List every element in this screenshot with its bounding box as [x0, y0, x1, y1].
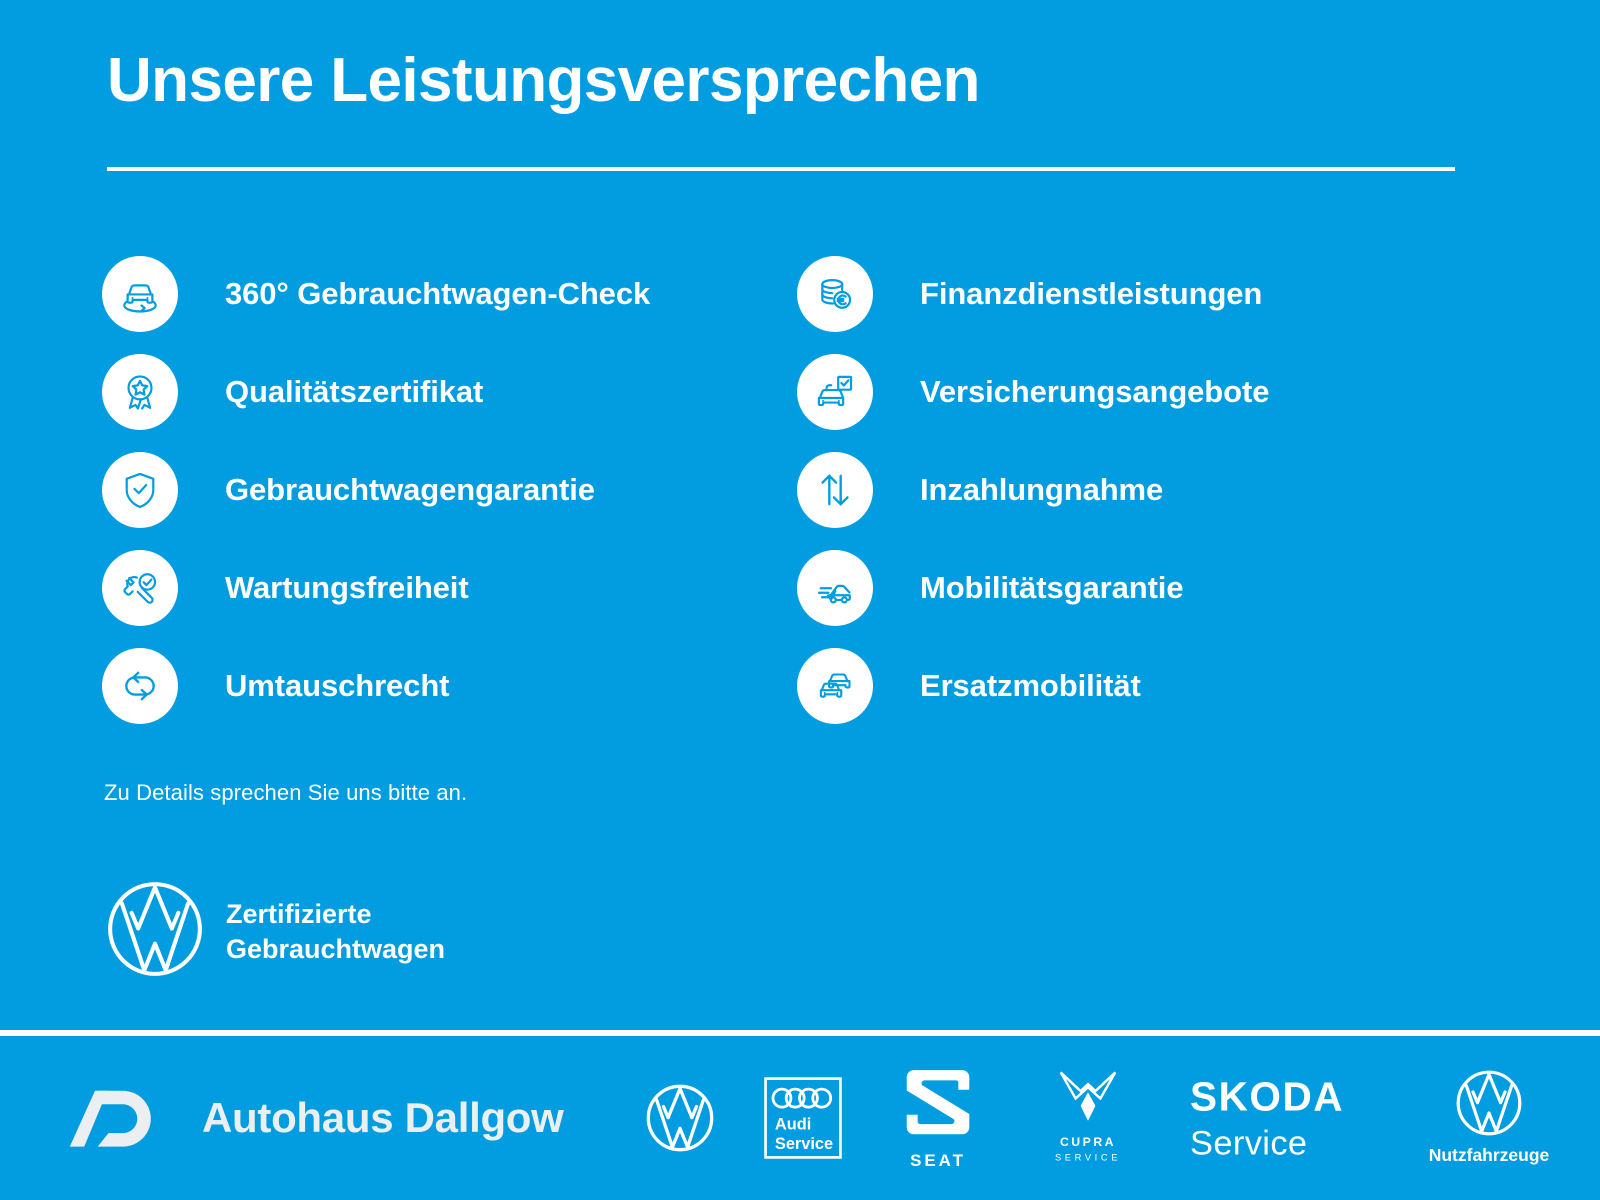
award-medal-icon: [102, 354, 178, 430]
brand-volkswagen: [644, 1082, 716, 1154]
benefit-label: Ersatzmobilität: [920, 668, 1141, 704]
skoda-wordmark-icon: SKODA Service: [1190, 1072, 1366, 1164]
audi-rings-icon: Audi Service: [764, 1077, 842, 1159]
benefits-left-column: 360° Gebrauchtwagen-Check Qualitätszerti…: [102, 245, 797, 735]
benefit-item: 360° Gebrauchtwagen-Check: [102, 245, 797, 343]
benefit-item: Qualitätszertifikat: [102, 343, 797, 441]
certified-label: Zertifizierte Gebrauchtwagen: [226, 897, 445, 966]
dealer-name: Autohaus Dallgow: [202, 1094, 564, 1142]
benefit-item: Umtauschrecht: [102, 637, 797, 735]
dealer-branding: Autohaus Dallgow: [68, 1083, 564, 1154]
vw-roundel-icon: [104, 878, 206, 985]
car-360-check-icon: [102, 256, 178, 332]
brand-audi-service: Audi Service: [764, 1077, 842, 1159]
benefit-label: Mobilitätsgarantie: [920, 570, 1183, 606]
svg-text:SERVICE: SERVICE: [1055, 1153, 1121, 1163]
brand-cupra-service: CUPRA SERVICE: [1034, 1067, 1142, 1169]
benefit-label: Versicherungsangebote: [920, 374, 1269, 410]
wrench-check-icon: [102, 550, 178, 626]
benefit-item: Finanzdienstleistungen: [797, 245, 1492, 343]
svg-text:Audi: Audi: [775, 1115, 811, 1133]
promo-poster: Unsere Leistungsversprechen 360° Gebrauc…: [0, 0, 1600, 1200]
benefits-right-column: Finanzdienstleistungen Versicherungsange…: [797, 245, 1492, 735]
header: Unsere Leistungsversprechen: [107, 48, 1457, 113]
svg-text:Service: Service: [775, 1135, 833, 1153]
benefit-label: Wartungsfreiheit: [225, 570, 469, 606]
brand-skoda-service: SKODA Service: [1190, 1072, 1366, 1164]
ad-monogram-icon: [68, 1083, 176, 1154]
svg-text:SKODA: SKODA: [1190, 1073, 1344, 1119]
benefit-item: Wartungsfreiheit: [102, 539, 797, 637]
car-checkbox-icon: [797, 354, 873, 430]
benefit-label: Gebrauchtwagengarantie: [225, 472, 595, 508]
benefit-label: Qualitätszertifikat: [225, 374, 483, 410]
svg-text:Nutzfahrzeuge: Nutzfahrzeuge: [1429, 1145, 1550, 1165]
vw-roundel-icon: [644, 1082, 716, 1154]
two-cars-icon: [797, 648, 873, 724]
svg-text:Service: Service: [1190, 1125, 1307, 1163]
svg-text:SEAT: SEAT: [910, 1151, 966, 1170]
shield-check-icon: [102, 452, 178, 528]
page-title: Unsere Leistungsversprechen: [107, 48, 1457, 113]
benefit-item: Inzahlungnahme: [797, 441, 1492, 539]
brand-seat: SEAT: [890, 1063, 986, 1173]
svg-text:CUPRA: CUPRA: [1060, 1135, 1116, 1149]
footer: Autohaus Dallgow: [0, 1036, 1600, 1200]
brand-vw-nutzfahrzeuge: Nutzfahrzeuge: [1414, 1068, 1564, 1168]
brand-logos: Audi Service SEAT: [644, 1063, 1564, 1173]
car-speed-check-icon: [797, 550, 873, 626]
title-divider: [107, 167, 1455, 171]
benefit-item: Gebrauchtwagengarantie: [102, 441, 797, 539]
benefits-section: 360° Gebrauchtwagen-Check Qualitätszerti…: [0, 245, 1600, 735]
cupra-mark-icon: [1057, 1067, 1119, 1125]
exchange-arrows-icon: [102, 648, 178, 724]
vw-roundel-icon: [1454, 1068, 1524, 1138]
benefit-label: Umtauschrecht: [225, 668, 449, 704]
benefit-item: Ersatzmobilität: [797, 637, 1492, 735]
benefit-label: Inzahlungnahme: [920, 472, 1163, 508]
benefit-item: Versicherungsangebote: [797, 343, 1492, 441]
footnote-text: Zu Details sprechen Sie uns bitte an.: [104, 780, 467, 806]
benefit-label: Finanzdienstleistungen: [920, 276, 1262, 312]
benefit-label: 360° Gebrauchtwagen-Check: [225, 276, 650, 312]
benefit-item: Mobilitätsgarantie: [797, 539, 1492, 637]
coins-euro-icon: [797, 256, 873, 332]
seat-s-icon: [895, 1063, 981, 1143]
certified-used-cars-block: Zertifizierte Gebrauchtwagen: [104, 878, 445, 985]
up-down-arrows-icon: [797, 452, 873, 528]
